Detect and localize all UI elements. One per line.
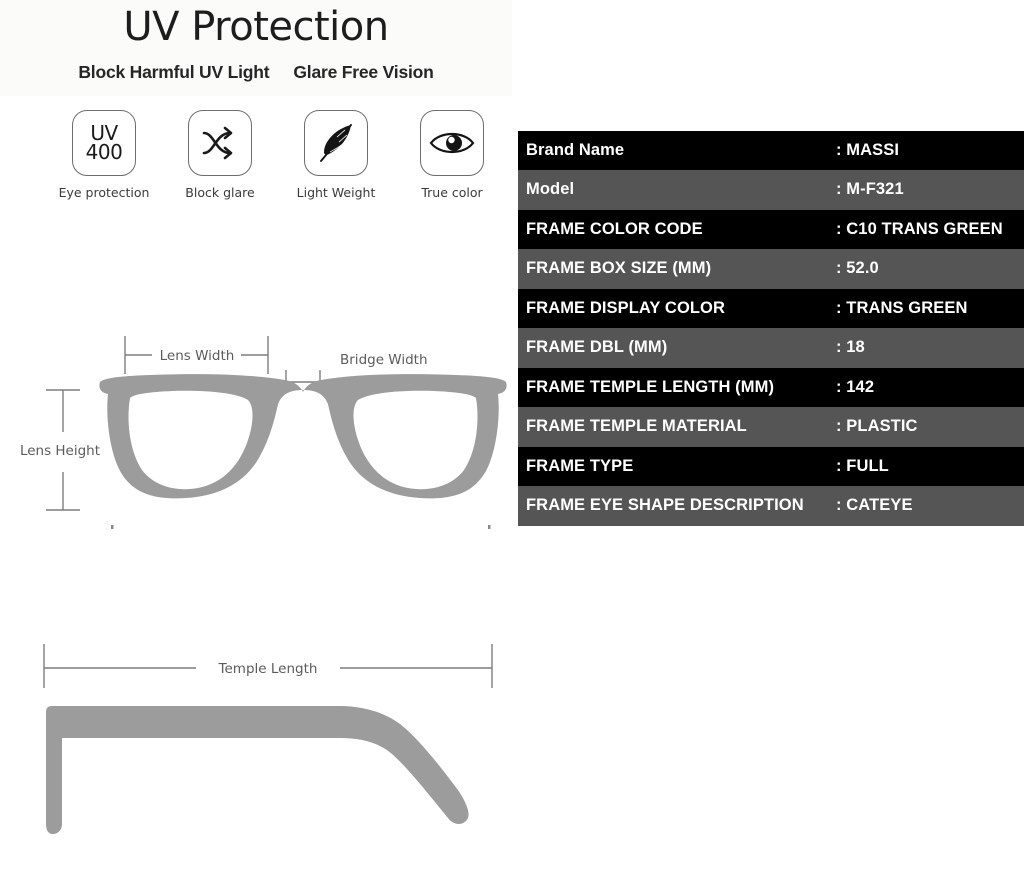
uv-protection-banner: UV Protection Block Harmful UV Light Gla… xyxy=(0,0,512,96)
product-illustration-panel: UV Protection Block Harmful UV Light Gla… xyxy=(0,0,512,886)
spec-key: FRAME BOX SIZE (MM) xyxy=(518,249,832,288)
lens-height-label: Lens Height xyxy=(20,443,100,459)
feature-label-eye-protection: Eye protection xyxy=(59,185,150,200)
product-spec-table: Brand Name: MASSIModel: M-F321FRAME COLO… xyxy=(518,131,1024,526)
feature-label-block-glare: Block glare xyxy=(185,185,254,200)
spec-key: FRAME DISPLAY COLOR xyxy=(518,289,832,328)
feature-eye-protection: UV 400 Eye protection xyxy=(58,110,150,200)
glasses-front-silhouette xyxy=(99,374,506,498)
table-row: Model: M-F321 xyxy=(518,170,1024,209)
front-tick-right xyxy=(488,525,491,529)
spec-key: FRAME TYPE xyxy=(518,447,832,486)
frame-front-diagram: Lens Width Bridge Width Lens Height xyxy=(0,322,512,572)
table-row: FRAME TEMPLE LENGTH (MM): 142 xyxy=(518,368,1024,407)
banner-title: UV Protection xyxy=(0,4,512,50)
table-row: FRAME DISPLAY COLOR: TRANS GREEN xyxy=(518,289,1024,328)
feather-icon xyxy=(304,110,368,176)
spec-key: FRAME EYE SHAPE DESCRIPTION xyxy=(518,486,832,525)
spec-value: : 18 xyxy=(832,328,1024,367)
feature-label-light-weight: Light Weight xyxy=(297,185,376,200)
uv400-icon: UV 400 xyxy=(72,110,136,176)
feature-true-color: True color xyxy=(406,110,498,200)
banner-subtitle-2: Glare Free Vision xyxy=(293,62,433,83)
spec-value: : M-F321 xyxy=(832,170,1024,209)
spec-key: Model xyxy=(518,170,832,209)
spec-value: : FULL xyxy=(832,447,1024,486)
spec-key: FRAME DBL (MM) xyxy=(518,328,832,367)
feature-label-true-color: True color xyxy=(421,185,482,200)
lens-width-label: Lens Width xyxy=(160,348,235,364)
table-row: FRAME COLOR CODE: C10 TRANS GREEN xyxy=(518,210,1024,249)
feature-icon-row: UV 400 Eye protection Block glare xyxy=(58,110,498,200)
spec-value: : C10 TRANS GREEN xyxy=(832,210,1024,249)
spec-key: FRAME TEMPLE MATERIAL xyxy=(518,407,832,446)
spec-value: : 142 xyxy=(832,368,1024,407)
spec-value: : CATEYE xyxy=(832,486,1024,525)
shuffle-arrows-icon xyxy=(188,110,252,176)
banner-subtitle-row: Block Harmful UV Light Glare Free Vision xyxy=(0,62,512,83)
feature-block-glare: Block glare xyxy=(174,110,266,200)
temple-length-label: Temple Length xyxy=(218,661,318,677)
eye-icon xyxy=(420,110,484,176)
bridge-width-label: Bridge Width xyxy=(340,352,428,368)
table-row: FRAME TEMPLE MATERIAL: PLASTIC xyxy=(518,407,1024,446)
banner-subtitle-1: Block Harmful UV Light xyxy=(78,62,269,83)
spec-value: : MASSI xyxy=(832,131,1024,170)
table-row: Brand Name: MASSI xyxy=(518,131,1024,170)
table-row: FRAME DBL (MM): 18 xyxy=(518,328,1024,367)
spec-key: FRAME COLOR CODE xyxy=(518,210,832,249)
front-tick-left xyxy=(111,525,114,529)
spec-key: FRAME TEMPLE LENGTH (MM) xyxy=(518,368,832,407)
spec-value: : 52.0 xyxy=(832,249,1024,288)
temple-length-diagram: Temple Length xyxy=(0,626,512,866)
table-row: FRAME TYPE: FULL xyxy=(518,447,1024,486)
eye-icon-svg xyxy=(429,128,475,158)
table-row: FRAME EYE SHAPE DESCRIPTION: CATEYE xyxy=(518,486,1024,525)
shuffle-arrows-icon-svg xyxy=(200,125,240,161)
feature-light-weight: Light Weight xyxy=(290,110,382,200)
feather-icon-svg xyxy=(315,121,357,165)
spec-value: : TRANS GREEN xyxy=(832,289,1024,328)
table-row: FRAME BOX SIZE (MM): 52.0 xyxy=(518,249,1024,288)
spec-table-body: Brand Name: MASSIModel: M-F321FRAME COLO… xyxy=(518,131,1024,526)
spec-key: Brand Name xyxy=(518,131,832,170)
uv400-icon-text-bottom: 400 xyxy=(86,143,123,162)
spec-value: : PLASTIC xyxy=(832,407,1024,446)
temple-arm-silhouette xyxy=(46,706,469,834)
